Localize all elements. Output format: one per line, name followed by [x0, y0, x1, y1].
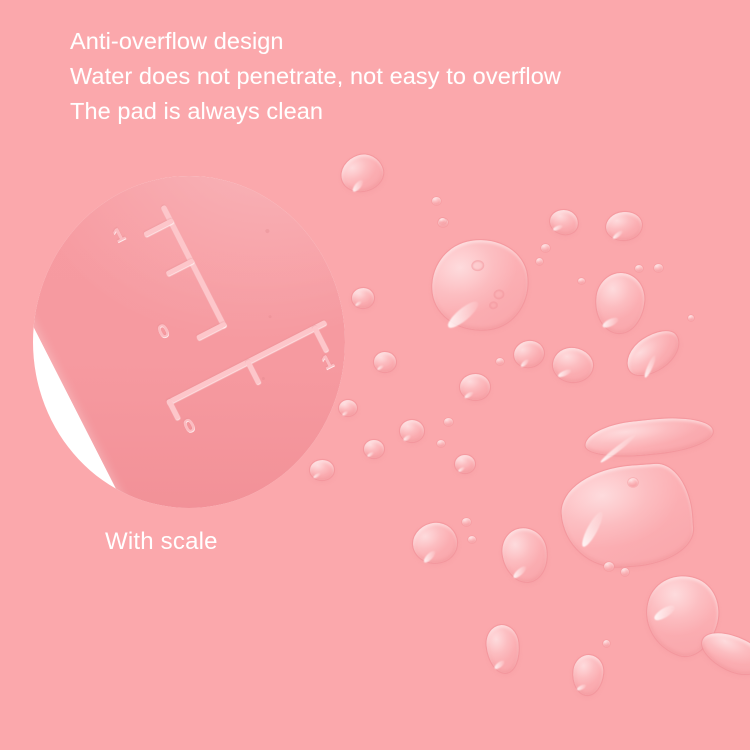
vertical-ruler-tick-mid: [166, 258, 195, 276]
water-droplet-large: [426, 234, 534, 336]
water-droplet: [499, 525, 552, 586]
water-droplet: [548, 208, 580, 236]
vertical-ruler-foot-tick: [196, 321, 227, 340]
copy-line-3: The pad is always clean: [70, 94, 561, 129]
water-droplet: [578, 278, 585, 284]
horizontal-ruler-label-1: 1: [318, 351, 337, 375]
water-droplet: [571, 654, 605, 697]
water-droplet: [460, 374, 490, 400]
water-droplet: [437, 440, 445, 447]
water-droplet: [462, 518, 471, 526]
copy-line-1: Anti-overflow design: [70, 24, 561, 59]
water-droplet: [374, 352, 396, 372]
water-droplet: [468, 536, 476, 543]
water-droplet: [635, 265, 643, 272]
water-droplet: [444, 418, 453, 426]
water-droplet: [455, 455, 475, 473]
water-droplet: [621, 568, 629, 576]
water-droplet: [604, 562, 614, 571]
water-droplet: [352, 288, 374, 308]
water-droplet-streak: [619, 323, 686, 384]
water-droplet: [485, 623, 522, 674]
water-droplet: [654, 264, 663, 272]
horizontal-ruler-tick-end: [312, 325, 329, 352]
water-droplet: [364, 440, 384, 458]
vertical-ruler-tick-top: [143, 218, 174, 237]
water-droplet: [432, 197, 441, 205]
water-droplet: [605, 210, 644, 242]
water-droplet: [593, 271, 647, 336]
water-droplet: [496, 358, 504, 365]
water-droplet: [536, 258, 543, 265]
with-scale-caption: With scale: [105, 528, 218, 556]
horizontal-ruler-tick-mid: [245, 359, 261, 384]
marketing-copy: Anti-overflow design Water does not pene…: [70, 24, 561, 129]
vertical-ruler-label-1: 1: [110, 224, 129, 248]
water-droplet: [551, 345, 595, 384]
water-droplet: [688, 315, 694, 321]
water-droplet: [400, 420, 424, 442]
product-image: Anti-overflow design Water does not pene…: [0, 0, 750, 750]
water-droplet-streak: [559, 462, 696, 571]
water-droplet: [603, 640, 610, 647]
vertical-ruler-label-0: 0: [154, 320, 173, 344]
horizontal-ruler-label-0: 0: [180, 415, 199, 439]
water-droplet-streak: [584, 413, 715, 460]
water-droplet: [628, 478, 638, 487]
water-droplet: [409, 518, 461, 567]
magnifier-callout: 0 1 0 1: [33, 176, 345, 508]
copy-line-2: Water does not penetrate, not easy to ov…: [70, 59, 561, 94]
water-droplet: [439, 218, 446, 224]
water-droplet: [541, 244, 550, 252]
water-droplet: [512, 338, 547, 370]
